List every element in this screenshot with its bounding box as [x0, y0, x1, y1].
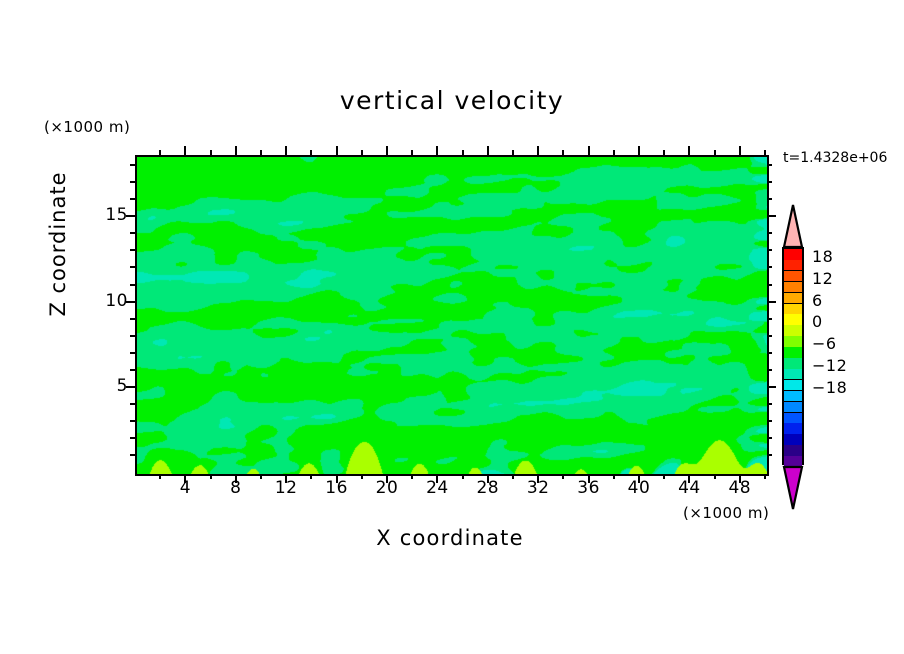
y-axis-tick-minor-right	[767, 232, 772, 234]
y-axis-tick-minor	[130, 403, 135, 405]
x-axis-tick-major-top	[386, 146, 388, 155]
y-axis-unit-label: (×1000 m)	[44, 118, 130, 136]
colorbar-tick-label: 12	[812, 269, 833, 288]
x-axis-tick-minor	[159, 474, 161, 479]
contour-field-canvas	[137, 157, 767, 474]
x-axis-tick-minor-top	[210, 150, 212, 155]
y-axis-tick-minor	[130, 420, 135, 422]
y-axis-tick-minor-right	[767, 454, 772, 456]
x-axis-tick-label: 44	[669, 478, 709, 498]
y-axis-tick-minor-right	[767, 403, 772, 405]
colorbar-band	[784, 380, 802, 392]
colorbar-band	[784, 271, 802, 283]
y-axis-tick-minor	[130, 249, 135, 251]
x-axis-unit-label: (×1000 m)	[683, 504, 769, 522]
y-axis-tick-minor-right	[767, 198, 772, 200]
y-axis-tick-minor-right	[767, 249, 772, 251]
x-axis-tick-minor	[310, 474, 312, 479]
colorbar-band	[784, 260, 802, 272]
x-axis-tick-label: 16	[317, 478, 357, 498]
colorbar-band	[784, 249, 802, 261]
time-annotation: t=1.4328e+06	[783, 150, 887, 166]
y-axis-tick-minor	[130, 318, 135, 320]
colorbar-band	[784, 445, 802, 457]
y-axis-tick-minor	[130, 181, 135, 183]
x-axis-tick-major-top	[336, 146, 338, 155]
contour-figure: vertical velocity (×1000 m) Z coordinate…	[0, 0, 904, 654]
colorbar-band	[784, 391, 802, 403]
y-axis-title: Z coordinate	[46, 164, 70, 324]
x-axis-tick-label: 24	[417, 478, 457, 498]
y-axis-tick-major-right	[767, 386, 776, 388]
y-axis-tick-minor-right	[767, 335, 772, 337]
x-axis-tick-minor-top	[159, 150, 161, 155]
x-axis-tick-minor	[613, 474, 615, 479]
colorbar-tick-label: 18	[812, 247, 833, 266]
x-axis-tick-label: 4	[165, 478, 205, 498]
y-axis-tick-minor	[130, 437, 135, 439]
x-axis-tick-minor	[210, 474, 212, 479]
x-axis-tick-minor	[462, 474, 464, 479]
y-axis-tick-label: 15	[84, 205, 128, 225]
colorbar-band	[784, 358, 802, 370]
y-axis-tick-minor-right	[767, 369, 772, 371]
y-axis-tick-minor	[130, 454, 135, 456]
colorbar-band	[784, 413, 802, 425]
colorbar-tick-label: 0	[812, 312, 823, 331]
x-axis-title: X coordinate	[135, 526, 765, 550]
x-axis-tick-minor	[714, 474, 716, 479]
x-axis-tick-minor-top	[462, 150, 464, 155]
x-axis-tick-major-top	[235, 146, 237, 155]
y-axis-tick-label: 10	[84, 291, 128, 311]
x-axis-tick-minor	[411, 474, 413, 479]
x-axis-tick-minor	[764, 474, 766, 479]
x-axis-tick-major-top	[285, 146, 287, 155]
colorbar-band	[784, 293, 802, 305]
colorbar-band	[784, 402, 802, 414]
x-axis-tick-label: 48	[720, 478, 760, 498]
colorbar-tick-label: 6	[812, 291, 823, 310]
x-axis-tick-minor-top	[613, 150, 615, 155]
y-axis-tick-minor	[130, 335, 135, 337]
y-axis-tick-minor-right	[767, 181, 772, 183]
x-axis-tick-minor-top	[411, 150, 413, 155]
x-axis-tick-label: 40	[619, 478, 659, 498]
x-axis-tick-minor-top	[663, 150, 665, 155]
y-axis-tick-major-right	[767, 215, 776, 217]
x-axis-tick-minor-top	[260, 150, 262, 155]
y-axis-tick-minor	[130, 266, 135, 268]
x-axis-tick-minor-top	[562, 150, 564, 155]
x-axis-tick-label: 20	[367, 478, 407, 498]
y-axis-tick-minor-right	[767, 420, 772, 422]
y-axis-tick-minor	[130, 232, 135, 234]
contour-plot-area	[135, 155, 769, 476]
colorbar-band	[784, 336, 802, 348]
x-axis-tick-major-top	[436, 146, 438, 155]
colorbar-band	[784, 423, 802, 435]
y-axis-tick-minor-right	[767, 164, 772, 166]
x-axis-tick-minor	[562, 474, 564, 479]
x-axis-tick-minor-top	[361, 150, 363, 155]
x-axis-tick-major-top	[588, 146, 590, 155]
x-axis-tick-minor-top	[714, 150, 716, 155]
x-axis-tick-major-top	[184, 146, 186, 155]
colorbar-tick-label: −6	[812, 334, 837, 353]
x-axis-tick-label: 12	[266, 478, 306, 498]
x-axis-tick-label: 36	[569, 478, 609, 498]
y-axis-tick-minor-right	[767, 266, 772, 268]
colorbar[interactable]	[782, 247, 804, 465]
y-axis-tick-minor-right	[767, 437, 772, 439]
x-axis-tick-minor	[361, 474, 363, 479]
y-axis-tick-minor	[130, 369, 135, 371]
x-axis-tick-minor-top	[764, 150, 766, 155]
x-axis-tick-label: 32	[518, 478, 558, 498]
y-axis-tick-minor	[130, 284, 135, 286]
y-axis-tick-minor-right	[767, 284, 772, 286]
colorbar-band	[784, 369, 802, 381]
y-axis-tick-minor-right	[767, 318, 772, 320]
x-axis-tick-major-top	[487, 146, 489, 155]
x-axis-tick-label: 28	[468, 478, 508, 498]
x-axis-tick-major-top	[688, 146, 690, 155]
colorbar-tick-label: −12	[812, 356, 847, 375]
y-axis-tick-label: 5	[84, 376, 128, 396]
page-title: vertical velocity	[0, 86, 904, 115]
y-axis-tick-minor	[130, 164, 135, 166]
x-axis-tick-minor	[260, 474, 262, 479]
colorbar-band	[784, 304, 802, 316]
x-axis-tick-major-top	[638, 146, 640, 155]
y-axis-tick-minor-right	[767, 352, 772, 354]
colorbar-band	[784, 325, 802, 337]
x-axis-tick-label: 8	[216, 478, 256, 498]
y-axis-tick-minor	[130, 352, 135, 354]
x-axis-tick-minor	[512, 474, 514, 479]
x-axis-tick-major-top	[537, 146, 539, 155]
x-axis-tick-minor	[663, 474, 665, 479]
colorbar-band	[784, 282, 802, 294]
colorbar-band	[784, 347, 802, 359]
y-axis-tick-minor	[130, 198, 135, 200]
colorbar-band	[784, 314, 802, 326]
colorbar-tick-label: −18	[812, 378, 847, 397]
x-axis-tick-major-top	[739, 146, 741, 155]
x-axis-tick-minor-top	[512, 150, 514, 155]
colorbar-band	[784, 434, 802, 446]
x-axis-tick-minor-top	[310, 150, 312, 155]
y-axis-tick-major-right	[767, 301, 776, 303]
